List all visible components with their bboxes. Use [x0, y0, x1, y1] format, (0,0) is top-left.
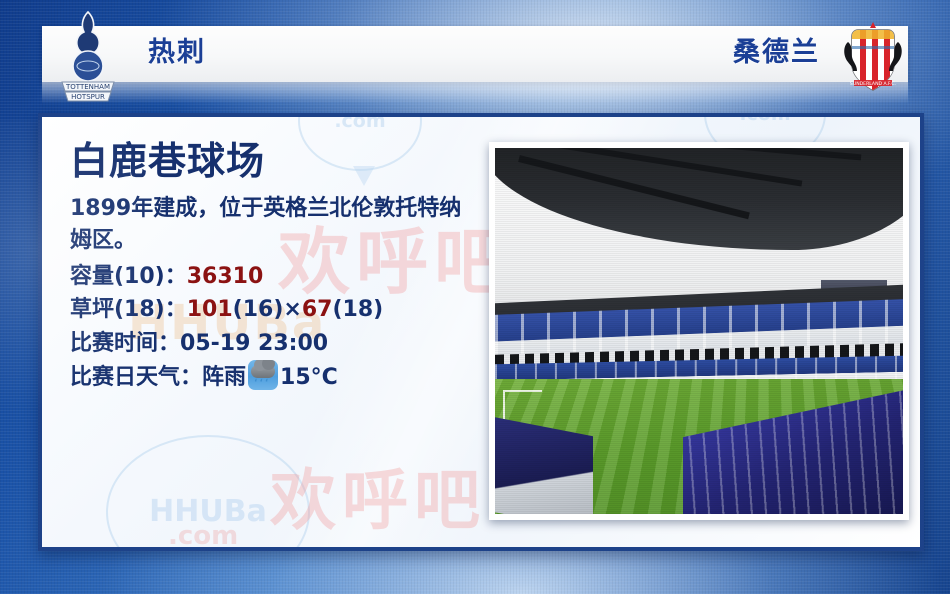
capacity-row: 容量(10)：36310 — [70, 260, 490, 293]
watermark-brand-cn-bottom: 欢呼吧 — [270, 447, 486, 543]
match-info-graphic: TOTTENHAM HOTSPUR 热刺 桑德兰 — [0, 0, 950, 594]
stadium-info-column: 白鹿巷球场 1899年建成，位于英格兰北伦敦托特纳姆区。 容量(10)：3631… — [70, 141, 490, 395]
rain-shower-icon: ʻʻʻ — [248, 360, 278, 390]
pitch-row: 草坪(18)：101(16)×67(18) — [70, 293, 490, 326]
kickoff-label: 比赛时间： — [70, 331, 180, 356]
stadium-info-panel: .com .com HHUBa HHUBa HHUBa 欢呼吧 欢呼吧 .com… — [38, 113, 924, 551]
pitch-separator: × — [283, 297, 301, 322]
stadium-description: 1899年建成，位于英格兰北伦敦托特纳姆区。 — [70, 193, 480, 258]
away-team-name: 桑德兰 — [733, 30, 820, 69]
watermark-bubble-bottom: HHUBa — [106, 435, 310, 551]
pitch-length-value: 101 — [187, 297, 233, 322]
header-bar-glow — [42, 82, 908, 104]
stadium-photo — [495, 148, 903, 514]
pitch-width-paren: (18) — [332, 297, 383, 322]
sunderland-afc-crest: SUNDERLAND A.F.C. — [836, 20, 910, 94]
home-team-name: 热刺 — [148, 30, 206, 69]
weather-label: 比赛日天气： — [70, 365, 202, 390]
weather-row: 比赛日天气：阵雨ʻʻʻ15°C — [70, 360, 490, 394]
weather-value: 阵雨 — [202, 365, 246, 390]
kickoff-row: 比赛时间：05-19 23:00 — [70, 327, 490, 360]
kickoff-value: 05-19 23:00 — [180, 331, 328, 356]
pitch-width-value: 67 — [302, 297, 333, 322]
pitch-length-paren: (16) — [233, 297, 284, 322]
svg-text:SUNDERLAND A.F.C.: SUNDERLAND A.F.C. — [850, 81, 896, 87]
watermark-dotcom: .com — [168, 521, 238, 551]
weather-temperature: 15°C — [280, 365, 338, 390]
capacity-value: 36310 — [187, 264, 264, 289]
pitch-label: 草坪(18)： — [70, 297, 187, 322]
svg-text:TOTTENHAM: TOTTENHAM — [65, 83, 110, 91]
stadium-title: 白鹿巷球场 — [70, 141, 490, 183]
tottenham-hotspur-crest: TOTTENHAM HOTSPUR — [58, 8, 118, 104]
capacity-label: 容量(10)： — [70, 264, 187, 289]
stadium-photo-frame — [489, 142, 909, 520]
svg-text:HOTSPUR: HOTSPUR — [71, 93, 105, 101]
